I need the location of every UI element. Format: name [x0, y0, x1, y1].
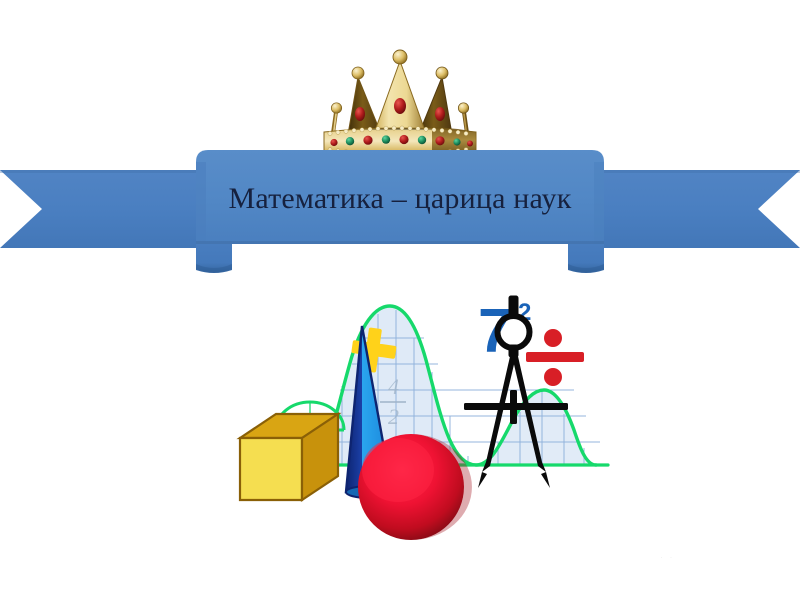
svg-text:2: 2: [388, 404, 399, 429]
golden-crown: [300, 44, 500, 162]
yellow-cube: [240, 414, 338, 500]
watermark-remnant: · ·: [660, 552, 780, 578]
bell-curve-graph: 4 2: [294, 306, 608, 465]
seven-squared: 7 2: [478, 297, 531, 366]
svg-text:4: 4: [388, 374, 399, 399]
red-division-sign: [526, 329, 584, 386]
slide-canvas: Математика – царица наук: [0, 0, 800, 600]
page-title: Математика – царица наук: [200, 168, 600, 230]
math-collage: 4 2 7 2: [228, 290, 628, 540]
